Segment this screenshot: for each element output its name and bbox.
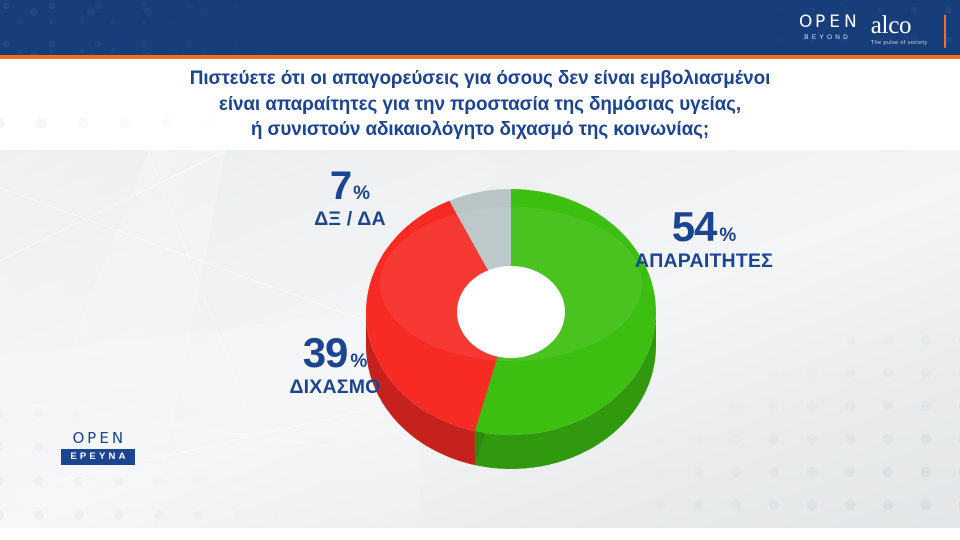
page-title: Πιστεύετε ότι οι απαγορεύσεις για όσους … (111, 66, 848, 143)
orange-divider-bar (944, 15, 947, 48)
alco-wordmark: alco (871, 14, 911, 38)
callout-division-value-row: 39 % (238, 332, 432, 374)
watermark-letter-o: O (72, 431, 84, 446)
watermark-letter-n: N (112, 431, 124, 446)
title-line-1: Πιστεύετε ότι οι απαγορεύσεις για όσους … (111, 66, 848, 92)
footer-strip (0, 528, 960, 540)
open-letter-n: N (844, 14, 858, 31)
callout-division-label: ΔΙΧΑΣΜΟ (238, 376, 432, 399)
callout-necessary-percent-symbol: % (719, 225, 736, 247)
title-line-3: ή συνιστούν αδικαιολόγητο διχασμό της κο… (111, 117, 848, 143)
logo-group: O P E N BEYOND alco The pulse of society (798, 14, 946, 48)
question-band: Πιστεύετε ότι οι απαγορεύσεις για όσους … (0, 59, 960, 150)
watermark-letter-e: E (99, 431, 109, 446)
title-line-2: είναι απαραίτητες για την προστασία της … (111, 92, 848, 118)
bg-dot-pattern-bottom-left (0, 404, 290, 540)
open-letter-p: P (815, 14, 826, 31)
alco-logo: alco The pulse of society (871, 14, 928, 46)
callout-dk-da-label: ΔΞ / ΔΑ (274, 208, 426, 231)
open-beyond-subtitle: BEYOND (804, 34, 851, 41)
open-letter-e: E (829, 14, 841, 31)
chart-panel: O P E N ΕΡΕΥΝΑ 7 % ΔΞ / ΔΑ 54 % ΑΠΑΡΑΙΤΗ… (0, 150, 960, 540)
callout-necessary-value: 54 (672, 206, 717, 248)
callout-division-value: 39 (303, 332, 348, 374)
open-ereyna-watermark: O P E N ΕΡΕΥΝΑ (52, 431, 144, 465)
open-wordmark: O P E N (798, 14, 858, 31)
callout-division: 39 % ΔΙΧΑΣΜΟ (238, 332, 432, 399)
watermark-label: ΕΡΕΥΝΑ (61, 449, 134, 465)
callout-necessary-value-row: 54 % (606, 206, 802, 248)
slide-root: O P E N BEYOND alco The pulse of society… (0, 0, 960, 540)
watermark-letter-p: P (87, 431, 97, 446)
open-letter-o: O (798, 14, 812, 31)
header-bar: O P E N BEYOND alco The pulse of society (0, 0, 960, 55)
callout-dk-da-value: 7 (330, 166, 351, 206)
callout-division-percent-symbol: % (350, 351, 367, 373)
callout-dk-da: 7 % ΔΞ / ΔΑ (274, 166, 426, 231)
callout-dk-da-value-row: 7 % (274, 166, 426, 206)
callout-dk-da-percent-symbol: % (353, 183, 370, 205)
callout-necessary-label: ΑΠΑΡΑΙΤΗΤΕΣ (606, 250, 802, 273)
header-dot-pattern-left (0, 0, 300, 55)
alco-tagline: The pulse of society (871, 40, 928, 46)
open-beyond-logo: O P E N BEYOND (798, 14, 858, 41)
watermark-wordmark: O P E N (72, 431, 123, 446)
callout-necessary: 54 % ΑΠΑΡΑΙΤΗΤΕΣ (606, 206, 802, 273)
bg-dot-pattern-bottom-right (650, 330, 960, 540)
